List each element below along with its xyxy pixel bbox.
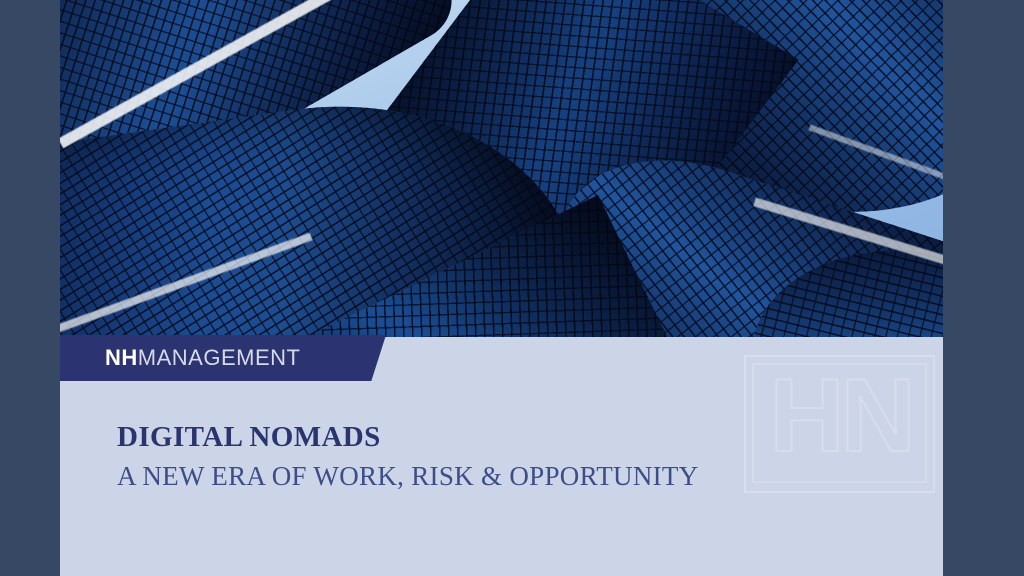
letterbox-bar-right bbox=[943, 0, 1024, 576]
brand-banner: NHMANAGEMENT bbox=[60, 335, 386, 381]
nh-management-logo: NHMANAGEMENT bbox=[105, 347, 300, 369]
page-title: DIGITAL NOMADS bbox=[117, 421, 699, 454]
letterbox-bar-left bbox=[0, 0, 60, 576]
logo-text-light: MANAGEMENT bbox=[138, 345, 301, 370]
page-subtitle: A NEW ERA OF WORK, RISK & OPPORTUNITY bbox=[117, 460, 699, 492]
watermark-frame-outer bbox=[744, 355, 935, 493]
hn-monogram-watermark-icon: HN bbox=[738, 351, 943, 503]
hero-photo-skyscrapers bbox=[60, 0, 943, 337]
presentation-slide: HN DIGITAL NOMADS A NEW ERA OF WORK, RIS… bbox=[60, 0, 943, 576]
watermark-letters: HN bbox=[756, 357, 925, 475]
watermark-frame-inner bbox=[752, 363, 927, 483]
slide-stage: HN DIGITAL NOMADS A NEW ERA OF WORK, RIS… bbox=[0, 0, 1024, 576]
logo-text-bold: NH bbox=[105, 345, 138, 370]
title-block: DIGITAL NOMADS A NEW ERA OF WORK, RISK &… bbox=[117, 421, 699, 493]
